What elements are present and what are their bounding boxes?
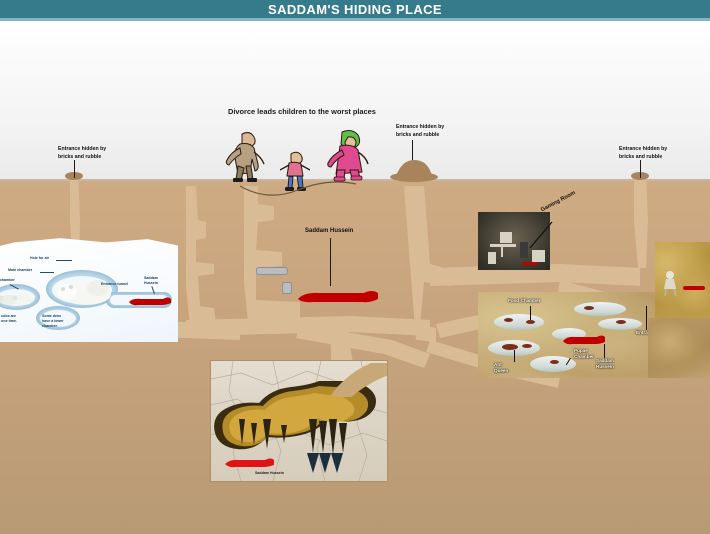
leader-line-saddam-main — [330, 238, 331, 286]
gameroom-chair — [520, 242, 528, 258]
gameroom-cabinet — [532, 250, 545, 262]
saddam-figure-center — [296, 289, 382, 307]
screenshot-root: SADDAM'S HIDING PLACE — [0, 0, 710, 534]
leader-line-center-entrance — [412, 140, 413, 160]
den-note-cubs: Up to 3 cubs are born at one time. — [0, 314, 17, 324]
den-label-hole-for-air: Hole for air — [30, 256, 49, 261]
gameroom-saddam-marker — [522, 262, 538, 265]
ant-leader-food-chamber — [530, 306, 531, 320]
page-header: SADDAM'S HIDING PLACE — [0, 0, 710, 21]
gameroom-stool — [488, 252, 496, 264]
ant-label-food-chamber: Food Chamber — [508, 298, 540, 304]
polar-bear — [54, 276, 114, 306]
right-rock-panel-lower — [648, 318, 710, 378]
tug-rope — [236, 164, 364, 200]
den-label-main-chamber: Main chamber — [8, 268, 32, 273]
callout-right-entrance-text: Entrance hidden by bricks and rubble — [619, 146, 667, 162]
ant-1 — [504, 318, 513, 322]
ant-6 — [550, 360, 559, 364]
polar-bear-cubs — [0, 291, 36, 307]
illustration-scene: Entrance hidden by bricks and rubble Ent… — [0, 24, 710, 534]
cave-cross-section-photo: Saddam Hussein — [210, 360, 388, 482]
leader-line-gaming-room — [528, 220, 554, 250]
leader-line-right-entrance — [640, 160, 641, 178]
ant-3 — [522, 344, 532, 348]
callout-center-entrance-text: Entrance hidden by bricks and rubble — [396, 124, 444, 140]
callout-right-entrance: Entrance hidden by bricks and rubble — [619, 146, 667, 162]
ant-chamber-food — [494, 314, 544, 330]
rockpanel-figure — [661, 270, 679, 296]
gameroom-monitor — [500, 232, 512, 243]
den-leader-main-chamber — [40, 272, 54, 273]
cave-caption-saddam: Saddam Hussein — [255, 471, 284, 475]
ant-5 — [616, 320, 626, 324]
ant-label-ant-queen: Ant Queen — [494, 362, 508, 375]
ant-queen-body — [502, 344, 518, 350]
right-rock-panel-upper — [655, 242, 710, 326]
polar-bear-den-diagram: Hole for air Main chamber Cubs' chamber … — [0, 236, 178, 342]
den-saddam-figure — [128, 296, 172, 306]
callout-center-entrance: Entrance hidden by bricks and rubble — [396, 124, 444, 140]
den-label-entrance-tunnel: Entrance tunnel — [101, 282, 128, 287]
page-title: SADDAM'S HIDING PLACE — [268, 2, 442, 17]
den-label-saddam: Saddam Hussein — [144, 276, 158, 286]
ant-label-saddam: Saddam Hussein — [596, 358, 614, 371]
divorce-caption: Divorce leads children to the worst plac… — [228, 107, 376, 116]
ant-4 — [584, 306, 594, 310]
furniture-fan — [282, 282, 292, 294]
ant-leader-saddam — [604, 344, 605, 358]
ant-2 — [526, 320, 535, 324]
ant-leader-entrance — [646, 306, 647, 330]
cave-top-ramp — [321, 361, 388, 397]
ant-chamber-upper-right — [574, 302, 626, 316]
ant-label-pupae-chamber: Pupae Chamber — [574, 348, 594, 361]
den-note-lower-chamber: Some dens have a lower chamber. — [42, 314, 64, 330]
furniture-bed — [256, 267, 288, 275]
antnest-saddam-figure — [562, 334, 606, 346]
callout-left-entrance: Entrance hidden by bricks and rubble — [58, 146, 106, 162]
den-label-cubs-chamber: Cubs' chamber — [0, 278, 15, 283]
ant-leader-ant-queen — [514, 350, 515, 362]
den-leader-hole-for-air — [56, 260, 72, 261]
callout-left-entrance-text: Entrance hidden by bricks and rubble — [58, 146, 106, 162]
gameroom-table — [490, 244, 516, 247]
gameroom-table-leg — [501, 247, 503, 257]
ant-nest-diagram: Food Chamber Entrance Ant Queen Pupae Ch… — [478, 292, 663, 378]
leader-line-left-entrance — [74, 160, 75, 178]
label-saddam-main: Saddam Hussein — [305, 228, 353, 234]
cave-saddam-figure — [223, 457, 275, 469]
rockpanel-saddam-marker — [683, 286, 705, 290]
